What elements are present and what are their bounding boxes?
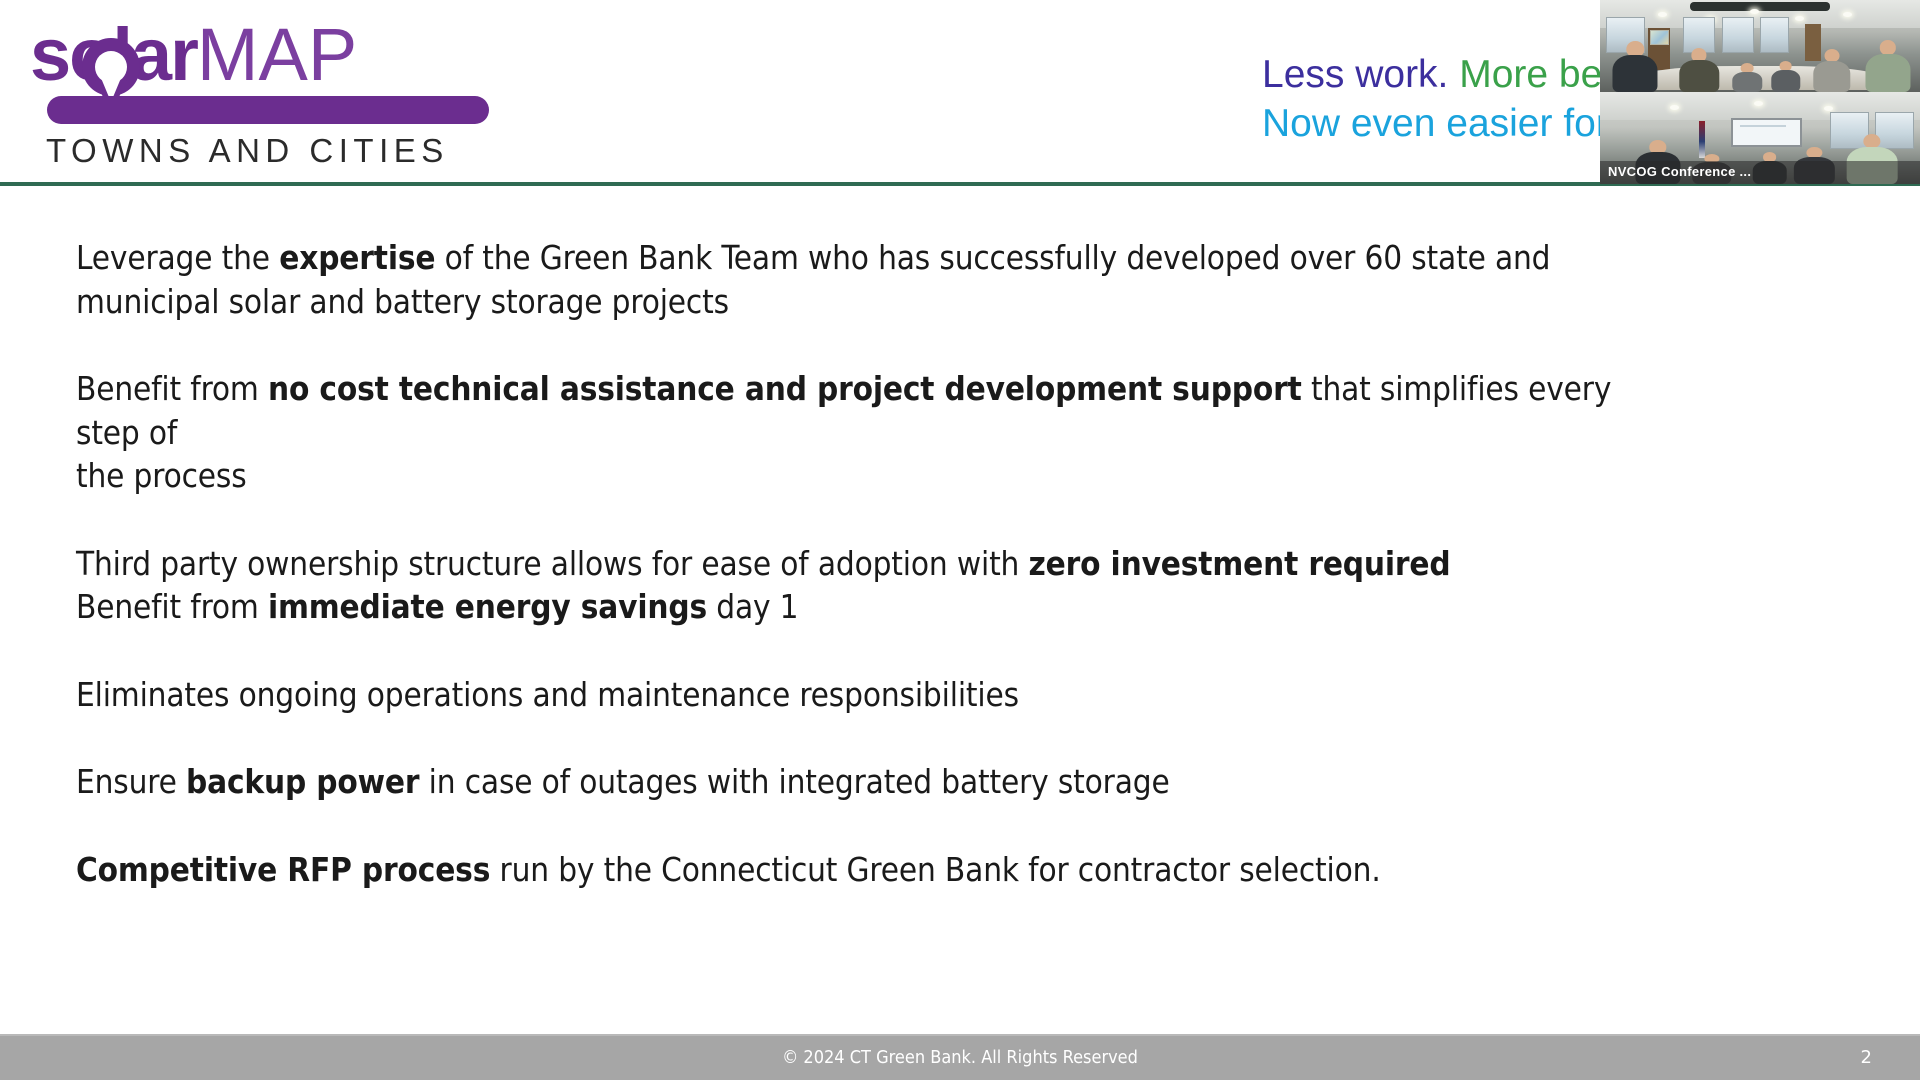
bullet-emphasis: expertise: [279, 238, 435, 277]
attendee: [1770, 61, 1802, 92]
presentation-slide: solarMAP TOWNS AND CITIES Less work. Mor…: [0, 0, 1920, 1080]
bullet-line: the process: [76, 454, 1616, 498]
bullet-text: day 1: [707, 587, 798, 626]
ceiling-light: [1754, 101, 1763, 106]
bullet-line: Benefit from immediate energy savings da…: [76, 585, 1616, 629]
attendee-body: [1679, 60, 1718, 92]
bullet-line: municipal solar and battery storage proj…: [76, 280, 1616, 324]
ceiling-beam: [1690, 2, 1831, 11]
bullet-emphasis: immediate energy savings: [268, 587, 707, 626]
bullet-line: Competitive RFP process run by the Conne…: [76, 848, 1616, 892]
window: [1760, 17, 1789, 54]
logo-subtitle: TOWNS AND CITIES: [46, 132, 506, 170]
bullet-text: run by the Connecticut Green Bank for co…: [490, 850, 1380, 889]
bullet-list: Leverage the expertise of the Green Bank…: [76, 236, 1776, 935]
video-participant-label: NVCOG Conference ...: [1600, 161, 1920, 184]
bullet-text: Benefit from: [76, 369, 268, 408]
window: [1722, 17, 1754, 54]
video-call-overlay[interactable]: NVCOG Conference ...: [1600, 0, 1920, 184]
video-pane-top[interactable]: [1600, 0, 1920, 92]
bullet-text: Ensure: [76, 762, 186, 801]
slide-body: Leverage the expertise of the Green Bank…: [0, 186, 1920, 1040]
attendee: [1731, 63, 1763, 92]
logo-underline-bar: [47, 96, 489, 124]
bullet-backup-power: Ensure backup power in case of outages w…: [76, 760, 1616, 804]
bullet-text: Leverage the: [76, 238, 279, 277]
slide-footer: © 2024 CT Green Bank. All Rights Reserve…: [0, 1034, 1920, 1080]
bullet-emphasis: Competitive RFP process: [76, 850, 490, 889]
attendee-body: [1813, 61, 1850, 92]
bullet-text: of the Green Bank Team who has successfu…: [435, 238, 1550, 277]
conference-room-scene: [1600, 0, 1920, 92]
attendee: [1862, 39, 1913, 92]
attendee: [1811, 48, 1853, 92]
bullet-text: municipal solar and battery storage proj…: [76, 282, 729, 321]
bullet-line: Third party ownership structure allows f…: [76, 542, 1616, 586]
bullet-line: Ensure backup power in case of outages w…: [76, 760, 1616, 804]
footer-copyright: © 2024 CT Green Bank. All Rights Reserve…: [0, 1036, 1920, 1080]
attendee-body: [1771, 70, 1800, 92]
attendee-body: [1613, 55, 1658, 92]
attendee-body: [1865, 54, 1910, 92]
logo-word-map: MAP: [197, 13, 357, 96]
ceiling-light: [1795, 16, 1804, 21]
bullet-text: Third party ownership structure allows f…: [76, 544, 1029, 583]
bullet-text: Benefit from: [76, 587, 268, 626]
solarmap-logo: solarMAP TOWNS AND CITIES: [22, 10, 492, 175]
bullet-competitive-rfp: Competitive RFP process run by the Conne…: [76, 848, 1616, 892]
bullet-line: Eliminates ongoing operations and mainte…: [76, 673, 1616, 717]
projection-screen: [1731, 118, 1801, 147]
bullet-emphasis: no cost technical assistance and project…: [268, 369, 1302, 408]
footer-page-number: 2: [1861, 1036, 1872, 1080]
bullet-emphasis: backup power: [186, 762, 419, 801]
bullet-eliminates-om: Eliminates ongoing operations and mainte…: [76, 673, 1616, 717]
bullet-line: Benefit from no cost technical assistanc…: [76, 367, 1616, 454]
ceiling-light: [1824, 106, 1833, 111]
bullet-emphasis: zero investment required: [1029, 544, 1451, 583]
ceiling-light: [1658, 12, 1667, 17]
bullet-text: in case of outages with integrated batte…: [419, 762, 1169, 801]
bullet-expertise: Leverage the expertise of the Green Bank…: [76, 236, 1616, 323]
bullet-no-cost-support: Benefit from no cost technical assistanc…: [76, 367, 1616, 498]
tagline-less-work: Less work.: [1262, 53, 1459, 96]
bullet-third-party-ownership: Third party ownership structure allows f…: [76, 542, 1616, 629]
video-pane-bottom[interactable]: NVCOG Conference ...: [1600, 92, 1920, 184]
bullet-text: the process: [76, 456, 247, 495]
attendee: [1677, 46, 1722, 92]
bullet-text: Eliminates ongoing operations and mainte…: [76, 675, 1019, 714]
attendee-body: [1732, 72, 1761, 92]
attendee: [1610, 39, 1661, 92]
bullet-line: Leverage the expertise of the Green Bank…: [76, 236, 1616, 280]
